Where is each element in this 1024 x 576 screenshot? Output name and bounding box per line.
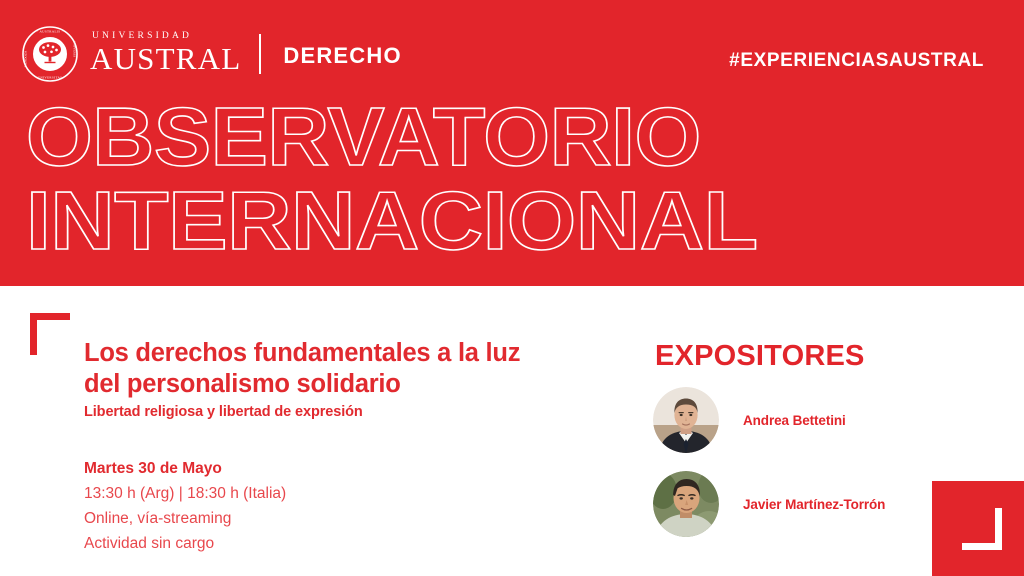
talk-title: Los derechos fundamentales a la luz del … [84,338,554,401]
campaign-hashtag: #EXPERIENCIASAUSTRAL [729,50,984,72]
svg-text:UNIVERSI: UNIVERSI [73,41,77,56]
speakers-heading: EXPOSITORES [655,340,865,373]
event-date: Martes 30 de Mayo [84,456,484,481]
bottom-right-red-square [932,481,1024,576]
poster-headline: OBSERVATORIO INTERNACIONAL [26,96,986,262]
institution-name: AUSTRAL [90,43,241,74]
university-logo-lockup: · AUSTRALIS · · UNIVERSITAS · MENDOZA UN… [22,26,402,82]
talk-subtitle: Libertad religiosa y libertad de expresi… [84,404,554,420]
speaker-name: Javier Martínez-Torrón [743,497,885,512]
headline-line-2: INTERNACIONAL [26,180,1024,262]
logo-divider [259,34,261,74]
austral-tree-crest-icon: · AUSTRALIS · · UNIVERSITAS · MENDOZA UN… [22,26,78,82]
event-poster: · AUSTRALIS · · UNIVERSITAS · MENDOZA UN… [0,0,1024,576]
event-details: Martes 30 de Mayo 13:30 h (Arg) | 18:30 … [84,456,484,556]
corner-bracket-icon [30,313,70,355]
speaker-name: Andrea Bettetini [743,413,846,428]
event-modality: Online, vía-streaming [84,506,484,531]
svg-text:· UNIVERSITAS ·: · UNIVERSITAS · [35,76,65,80]
university-wordmark: UNIVERSIDAD AUSTRAL [90,32,241,76]
headline-line-1: OBSERVATORIO [26,96,1020,178]
corner-bracket-icon [962,508,1002,550]
speaker-portrait-icon [653,387,719,453]
speaker-item: Andrea Bettetini [653,380,983,460]
event-time: 13:30 h (Arg) | 18:30 h (Italia) [84,481,484,506]
speaker-portrait-icon [653,471,719,537]
faculty-name: DERECHO [283,39,401,69]
svg-text:MENDOZA: MENDOZA [24,50,28,67]
event-cost: Actividad sin cargo [84,531,484,556]
svg-text:· AUSTRALIS ·: · AUSTRALIS · [37,30,63,34]
